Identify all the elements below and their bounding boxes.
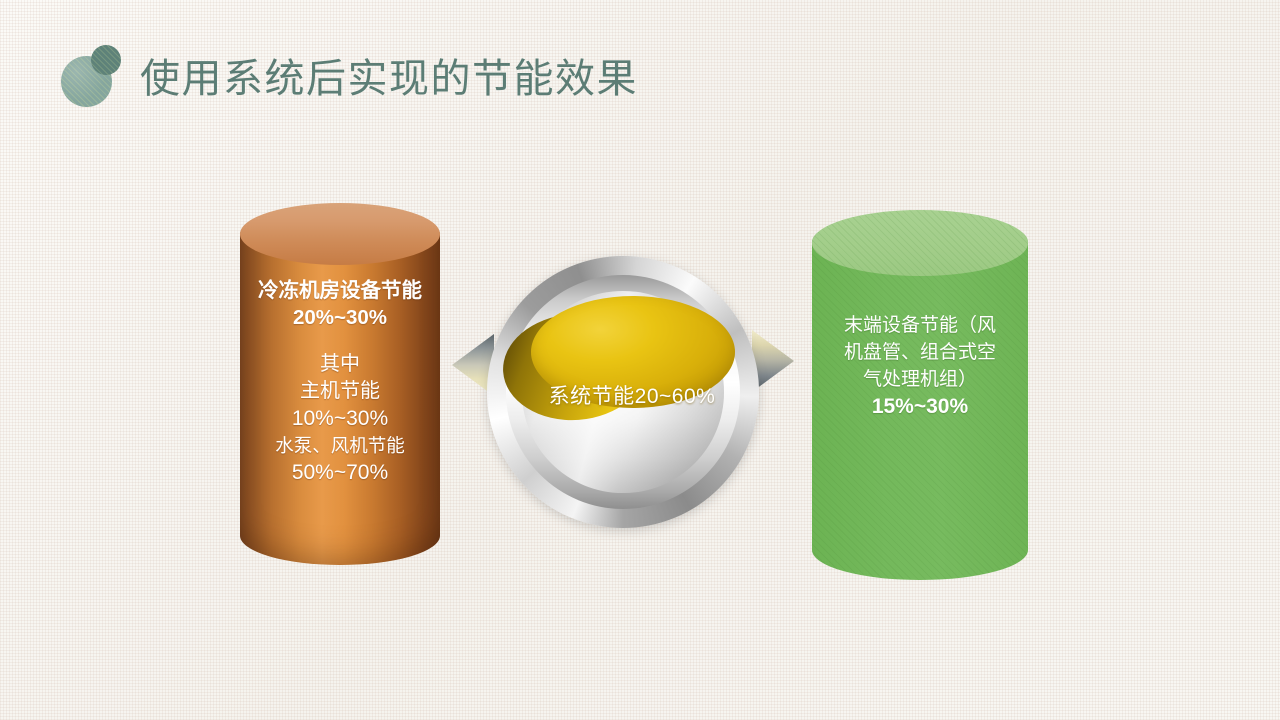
gold-ellipse-front — [531, 296, 735, 408]
cylinder-right-text: 末端设备节能（风 机盘管、组合式空 气处理机组） 15%~30% — [812, 312, 1028, 420]
cylinder-left-text: 冷冻机房设备节能 20%~30% 其中 主机节能 10%~30% 水泵、风机节能… — [240, 277, 440, 486]
left-line-7: 水泵、风机节能 — [240, 432, 440, 459]
center-badge: 系统节能20~60% — [487, 256, 759, 528]
cylinder-left-orange: 冷冻机房设备节能 20%~30% 其中 主机节能 10%~30% 水泵、风机节能… — [240, 205, 440, 565]
left-line-6: 10%~30% — [240, 405, 440, 432]
slide-header: 使用系统后实现的节能效果 — [0, 0, 1280, 135]
cylinder-left-top-ellipse — [240, 203, 440, 265]
right-line-1: 末端设备节能（风 — [826, 312, 1014, 339]
right-line-2: 机盘管、组合式空 — [826, 339, 1014, 366]
right-line-3: 气处理机组） — [826, 366, 1014, 393]
page-title: 使用系统后实现的节能效果 — [140, 53, 638, 105]
logo-mark — [61, 45, 127, 107]
right-line-4: 15%~30% — [826, 393, 1014, 420]
slide-canvas: 使用系统后实现的节能效果 冷冻机房设备节能 20%~30% 其中 主机节能 10… — [0, 0, 1280, 720]
left-line-1: 冷冻机房设备节能 — [240, 277, 440, 304]
left-line-8: 50%~70% — [240, 459, 440, 486]
left-line-gap — [240, 331, 440, 351]
cylinder-right-top-ellipse — [812, 210, 1028, 276]
logo-circle-small-icon — [91, 45, 121, 75]
cylinder-right-green: 末端设备节能（风 机盘管、组合式空 气处理机组） 15%~30% — [812, 212, 1028, 580]
left-line-4: 其中 — [240, 351, 440, 378]
left-line-5: 主机节能 — [240, 378, 440, 405]
left-line-2: 20%~30% — [240, 304, 440, 331]
